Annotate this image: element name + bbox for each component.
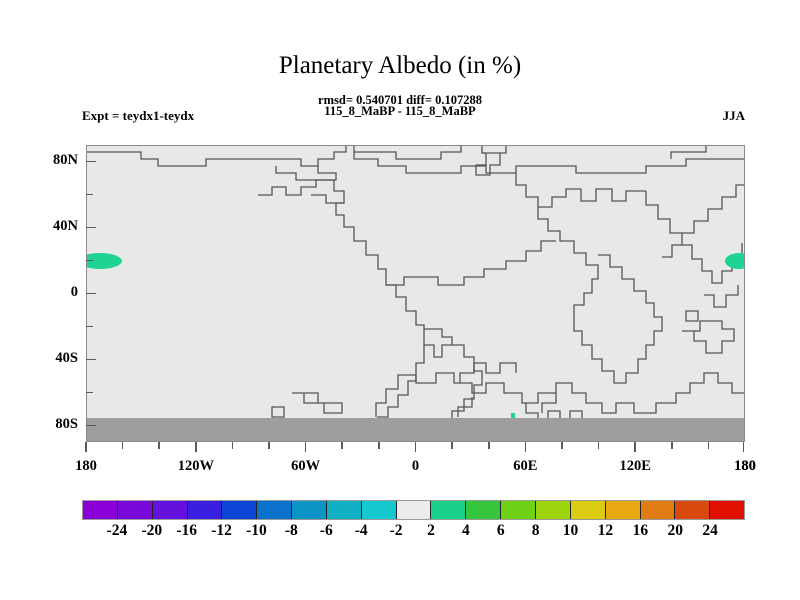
colorbar-tick-label: -10	[246, 522, 267, 540]
experiment-label: Expt = teydx1-teydx	[82, 108, 194, 124]
colorbar-tick-label: 16	[633, 522, 649, 540]
y-tick-minor	[86, 260, 93, 262]
x-tick-minor	[451, 442, 453, 449]
y-tick-minor	[86, 392, 93, 394]
colorbar-tick-label: 24	[702, 522, 718, 540]
colorbar	[82, 500, 745, 520]
colorbar-cell	[466, 501, 501, 519]
colorbar-tick-label: -8	[285, 522, 298, 540]
y-tick-major	[86, 227, 96, 229]
colorbar-labels: -24-20-16-12-10-8-6-4-224681012162024	[82, 522, 745, 544]
x-tick-major	[85, 442, 87, 452]
colorbar-cell	[222, 501, 257, 519]
colorbar-tick-label: 6	[497, 522, 505, 540]
y-tick-major	[86, 359, 96, 361]
x-tick-minor	[561, 442, 563, 449]
colorbar-cell	[606, 501, 641, 519]
colorbar-cell	[675, 501, 710, 519]
colorbar-cell	[397, 501, 432, 519]
y-axis-label: 80N	[34, 152, 78, 169]
colorbar-cell	[571, 501, 606, 519]
x-axis-label: 0	[386, 458, 446, 475]
colorbar-tick-label: -12	[211, 522, 232, 540]
colorbar-tick-label: -20	[141, 522, 162, 540]
x-tick-major	[415, 442, 417, 452]
x-tick-major	[634, 442, 636, 452]
colorbar-cell	[431, 501, 466, 519]
x-tick-minor	[488, 442, 490, 449]
y-axis-label: 80S	[34, 416, 78, 433]
x-tick-major	[743, 442, 745, 452]
x-tick-major	[525, 442, 527, 452]
colorbar-cell	[362, 501, 397, 519]
colorbar-cell	[188, 501, 223, 519]
colorbar-cell	[501, 501, 536, 519]
x-axis-label: 180	[56, 458, 116, 475]
x-axis-label: 60E	[495, 458, 555, 475]
x-tick-minor	[341, 442, 343, 449]
x-tick-minor	[268, 442, 270, 449]
x-tick-minor	[708, 442, 710, 449]
coastline-overlay	[86, 145, 745, 442]
x-axis-label: 120W	[166, 458, 226, 475]
x-tick-minor	[232, 442, 234, 449]
colorbar-cell	[257, 501, 292, 519]
colorbar-cell	[536, 501, 571, 519]
y-axis-label: 0	[34, 284, 78, 301]
x-axis-label: 120E	[605, 458, 665, 475]
map-plot-area	[86, 145, 745, 442]
colorbar-cell	[641, 501, 676, 519]
no-data-band	[86, 418, 745, 442]
colorbar-tick-label: -4	[355, 522, 368, 540]
colorbar-cell	[83, 501, 118, 519]
x-tick-major	[305, 442, 307, 452]
colorbar-tick-label: 4	[462, 522, 470, 540]
colorbar-cell	[153, 501, 188, 519]
x-tick-minor	[671, 442, 673, 449]
y-tick-minor	[86, 326, 93, 328]
y-tick-major	[86, 161, 96, 163]
colorbar-tick-label: -24	[107, 522, 128, 540]
colorbar-cell	[292, 501, 327, 519]
x-tick-minor	[378, 442, 380, 449]
x-tick-major	[195, 442, 197, 452]
colorbar-tick-label: 20	[667, 522, 683, 540]
colorbar-tick-label: -6	[320, 522, 333, 540]
colorbar-tick-label: 12	[598, 522, 614, 540]
x-tick-minor	[122, 442, 124, 449]
colorbar-tick-label: -2	[390, 522, 403, 540]
colorbar-cell	[118, 501, 153, 519]
anomaly-patches	[86, 253, 745, 419]
colorbar-tick-label: 8	[532, 522, 540, 540]
y-axis-label: 40N	[34, 218, 78, 235]
x-axis-label: 180	[715, 458, 775, 475]
page-title: Planetary Albedo (in %)	[0, 52, 800, 80]
y-tick-major	[86, 425, 96, 427]
colorbar-cell	[327, 501, 362, 519]
colorbar-tick-label: 2	[427, 522, 435, 540]
figure-canvas: Planetary Albedo (in %) rmsd= 0.540701 d…	[0, 0, 800, 600]
x-axis-label: 60W	[276, 458, 336, 475]
y-axis-label: 40S	[34, 350, 78, 367]
season-label: JJA	[723, 108, 745, 124]
colorbar-cell	[710, 501, 744, 519]
y-tick-minor	[86, 194, 93, 196]
y-tick-major	[86, 293, 96, 295]
x-tick-minor	[158, 442, 160, 449]
x-tick-minor	[598, 442, 600, 449]
colorbar-tick-label: -16	[176, 522, 197, 540]
colorbar-tick-label: 10	[563, 522, 579, 540]
